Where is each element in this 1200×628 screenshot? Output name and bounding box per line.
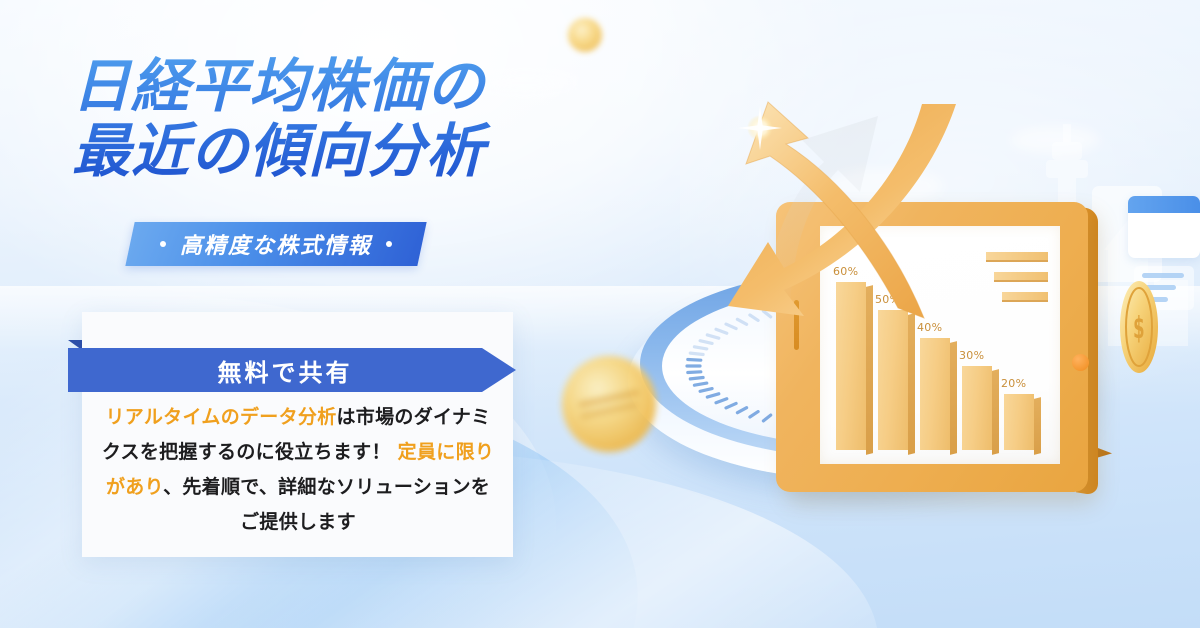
coin-left-motion: [562, 356, 656, 452]
bar-label-20%: 20%: [1001, 377, 1026, 390]
card-body-text: リアルタイムのデータ分析は市場のダイナミクスを把握するのに役立ちます！ 定員に限…: [100, 400, 496, 541]
page-title: 日経平均株価の 最近の傾向分析: [72, 54, 592, 184]
page-title-line-1: 日経平均株価の: [72, 54, 592, 119]
subtitle-badge: 高精度な株式情報: [125, 222, 426, 266]
tablet-home-button[interactable]: [1072, 354, 1089, 371]
bar-label-30%: 30%: [959, 349, 984, 362]
card-text-plain: 、先着順で、詳細なソリューションをご提供します: [163, 476, 490, 533]
bullet-dot-icon: [386, 241, 392, 247]
sparkle-icon: [736, 104, 784, 152]
bullet-dot-icon: [160, 241, 166, 247]
bar-20%: [1004, 394, 1034, 450]
card-text-highlight: リアルタイムのデータ分析: [105, 406, 336, 428]
page-title-line-2: 最近の傾向分析: [72, 119, 592, 184]
svg-text:$: $: [1133, 311, 1144, 346]
ribbon-body: 無料で共有: [68, 348, 516, 392]
coin-right-dollar: $: [1118, 278, 1160, 376]
hero-illustration: 60%50%40%30%20%: [540, 60, 1200, 580]
bar-50%: [878, 310, 908, 450]
bar-30%: [962, 366, 992, 450]
ribbon-label: 無料で共有: [218, 353, 353, 388]
subtitle-badge-label: 高精度な株式情報: [180, 228, 372, 260]
coin-top: [568, 18, 602, 52]
bar-40%: [920, 338, 950, 450]
ribbon-banner: 無料で共有: [68, 340, 516, 384]
promo-banner: 日経平均株価の 最近の傾向分析 高精度な株式情報 無料で共有 リアルタイムのデー…: [0, 0, 1200, 628]
